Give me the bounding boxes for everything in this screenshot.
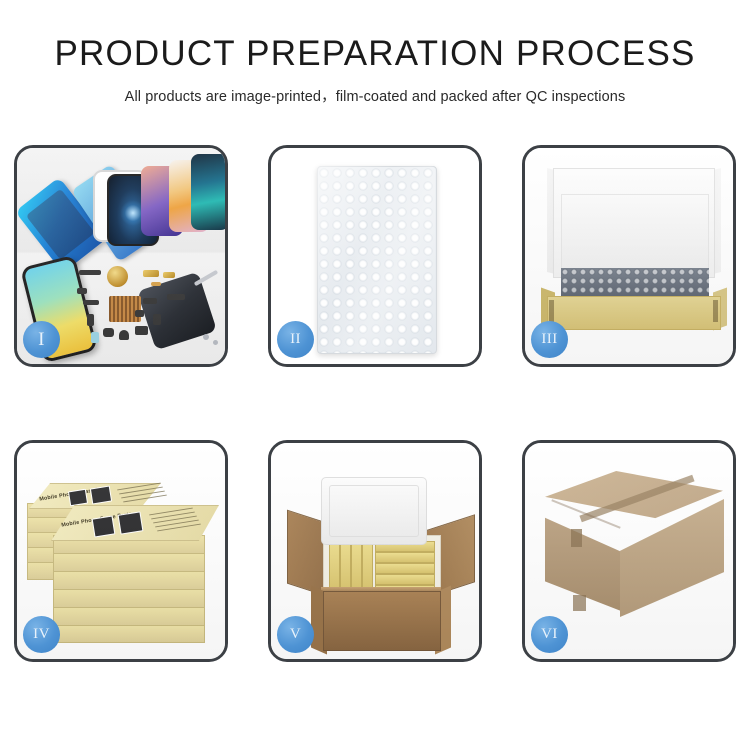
process-step-grid: I II [14,145,736,662]
product-preparation-process-page: PRODUCT PREPARATION PROCESS All products… [0,0,750,750]
step-numeral-1: I [38,329,45,351]
step-numeral-2: II [290,331,301,348]
step-numeral-5: V [290,626,301,643]
process-step-card-1[interactable]: I [14,145,228,367]
step-badge-4: IV [23,616,60,653]
page-header: PRODUCT PREPARATION PROCESS All products… [0,0,750,106]
page-title: PRODUCT PREPARATION PROCESS [0,36,750,71]
step-badge-5: V [277,616,314,653]
step-badge-1: I [23,321,60,358]
process-step-card-6[interactable]: VI [522,440,736,662]
step-badge-6: VI [531,616,568,653]
step-numeral-6: VI [541,626,558,643]
step-badge-3: III [531,321,568,358]
step-numeral-3: III [541,331,557,348]
process-step-card-3[interactable]: III [522,145,736,367]
process-step-card-5[interactable]: V [268,440,482,662]
process-step-card-2[interactable]: II [268,145,482,367]
page-subtitle: All products are image-printed，film-coat… [0,85,750,106]
step-numeral-4: IV [33,626,50,643]
process-step-card-4[interactable]: Mobile Phone Spare Parts Mobile Phon [14,440,228,662]
step-badge-2: II [277,321,314,358]
